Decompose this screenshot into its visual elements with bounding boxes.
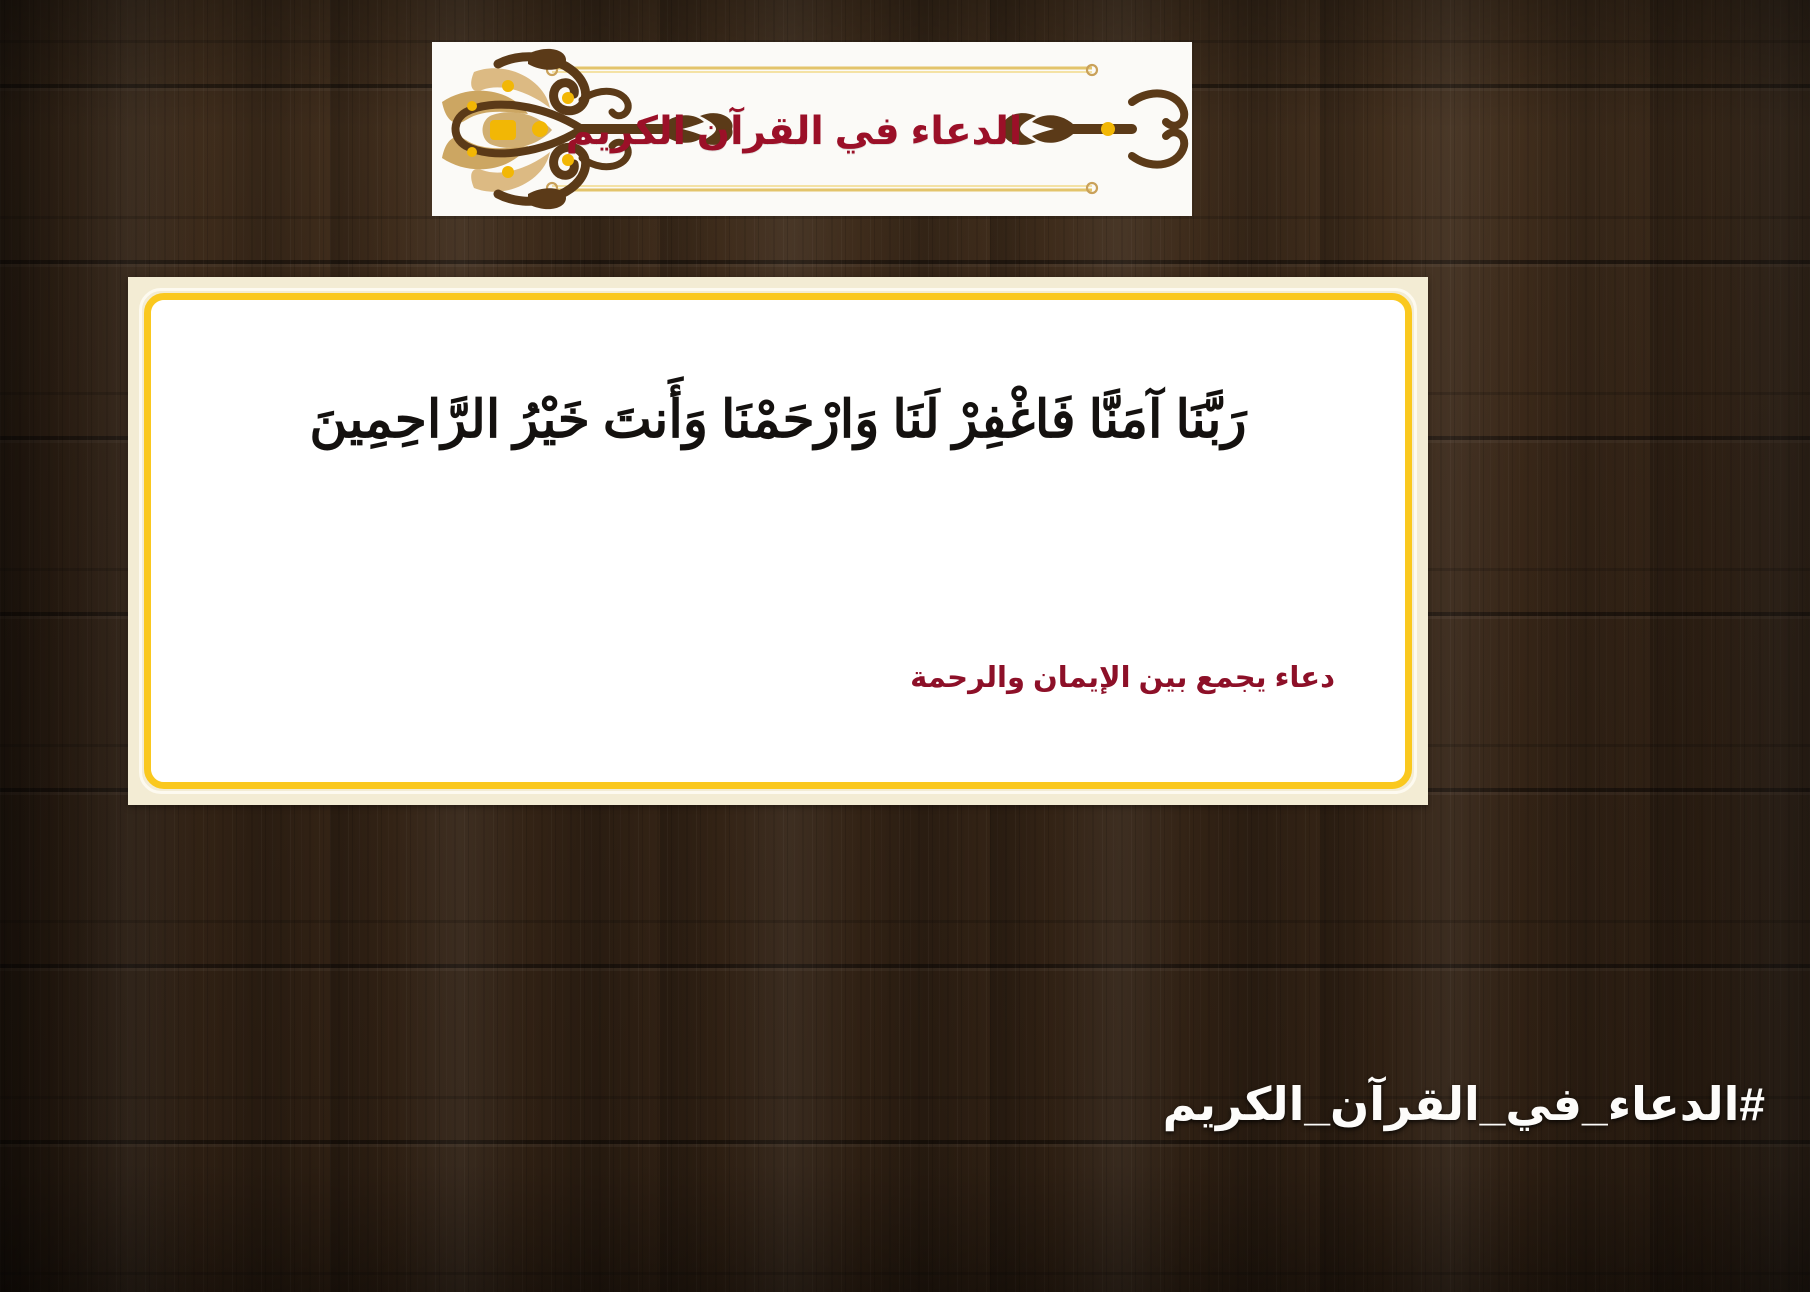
verse-note-text: دعاء يجمع بين الإيمان والرحمة: [910, 660, 1335, 695]
quran-verse-text: رَبَّنَا آمَنَّا فَاغْفِرْ لَنَا وَارْحَ…: [151, 386, 1405, 456]
card-content: رَبَّنَا آمَنَّا فَاغْفِرْ لَنَا وَارْحَ…: [151, 300, 1405, 782]
hashtag-label: #الدعاء_في_القرآن_الكريم: [1163, 1077, 1765, 1131]
arabesque-right-icon: [1003, 93, 1184, 164]
header-banner: الدعاء في القرآن الكريم: [432, 42, 1192, 216]
page-title: الدعاء في القرآن الكريم: [566, 109, 1022, 154]
verse-card: رَبَّنَا آمَنَّا فَاغْفِرْ لَنَا وَارْحَ…: [128, 277, 1428, 805]
